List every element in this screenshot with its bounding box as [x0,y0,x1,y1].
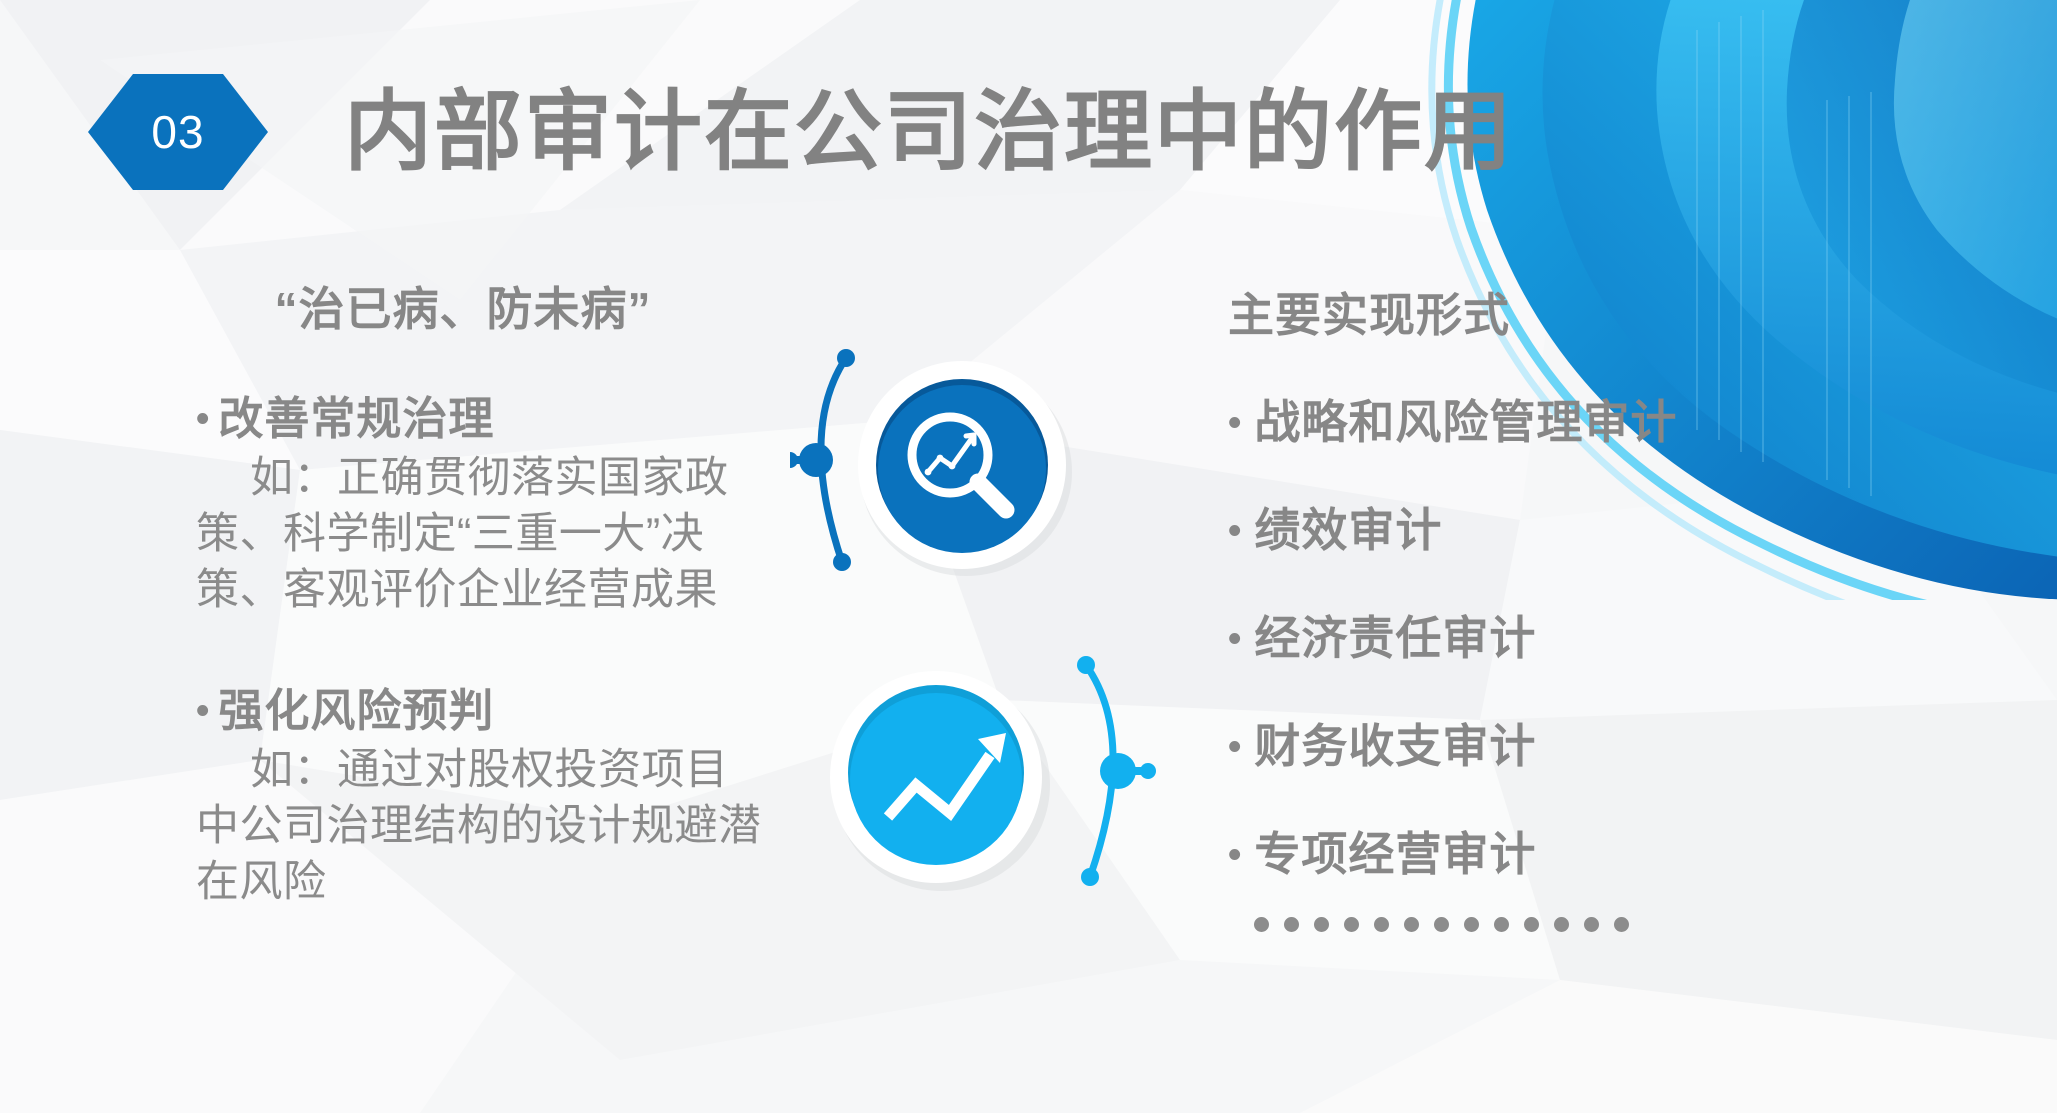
left-block-2-body: 如：通过对股权投资项目中公司治理结构的设计规避潜在风险 [196,743,766,911]
bullet-dot-icon: • [196,690,210,732]
ellipsis-dot [1494,917,1509,932]
left-block-2-title: •强化风险预判 [196,683,766,739]
ellipsis-dot [1344,917,1359,932]
section-number-hexagon: 03 [88,74,268,190]
trend-up-icon-group [800,635,1260,915]
right-column-heading: 主要实现形式 [1228,288,1848,343]
ellipsis-dot [1524,917,1539,932]
ellipsis-dots [1254,917,1848,932]
bullet-dot-icon: • [1228,510,1242,552]
ellipsis-dot [1374,917,1389,932]
right-column: 主要实现形式 •战略和风险管理审计 •绩效审计 •经济责任审计 •财务收支审计 … [1228,288,1848,932]
center-icon-group-2 [800,635,1260,915]
list-item-label: 财务收支审计 [1254,720,1536,772]
left-column: “治已病、防未病” •改善常规治理 如：正确贯彻落实国家政策、科学制定“三重一大… [196,282,766,911]
section-number-label: 03 [151,109,204,155]
ellipsis-dot [1404,917,1419,932]
arc-bracket-left-icon [790,349,855,571]
list-item: •战略和风险管理审计 [1228,399,1848,445]
left-block-1-body: 如：正确贯彻落实国家政策、科学制定“三重一大”决策、客观评价企业经营成果 [196,451,766,619]
implementation-forms-list: •战略和风险管理审计 •绩效审计 •经济责任审计 •财务收支审计 •专项经营审计 [1228,399,1848,932]
ellipsis-dot [1584,917,1599,932]
left-block-2-title-text: 强化风险预判 [218,685,494,736]
left-block-1: •改善常规治理 如：正确贯彻落实国家政策、科学制定“三重一大”决策、客观评价企业… [196,391,766,619]
list-item: •财务收支审计 [1228,723,1848,769]
bullet-dot-icon: • [196,398,210,440]
ellipsis-dot [1284,917,1299,932]
center-icon-group-1 [790,330,1130,600]
ellipsis-dot [1614,917,1629,932]
list-item-label: 绩效审计 [1254,504,1442,556]
left-block-2: •强化风险预判 如：通过对股权投资项目中公司治理结构的设计规避潜在风险 [196,683,766,911]
ellipsis-dot [1464,917,1479,932]
ellipsis-dot [1554,917,1569,932]
list-item: •专项经营审计 [1228,831,1848,877]
page-title: 内部审计在公司治理中的作用 [344,88,1514,176]
list-item-label: 战略和风险管理审计 [1254,396,1677,448]
presentation-slide: 03 内部审计在公司治理中的作用 “治已病、防未病” •改善常规治理 如：正确贯… [0,0,2057,1113]
slide-header: 03 内部审计在公司治理中的作用 [0,72,1514,192]
left-block-1-title: •改善常规治理 [196,391,766,447]
ellipsis-dot [1314,917,1329,932]
list-item-label: 专项经营审计 [1254,828,1536,880]
left-column-heading: “治已病、防未病” [196,282,766,337]
ellipsis-dot [1254,917,1269,932]
arc-bracket-right-icon [1077,656,1156,886]
magnifier-chart-icon-group [790,330,1130,600]
left-block-1-title-text: 改善常规治理 [218,393,494,444]
list-item: •经济责任审计 [1228,615,1848,661]
list-item-label: 经济责任审计 [1254,612,1536,664]
list-item: •绩效审计 [1228,507,1848,553]
bullet-dot-icon: • [1228,402,1242,444]
ellipsis-dot [1434,917,1449,932]
